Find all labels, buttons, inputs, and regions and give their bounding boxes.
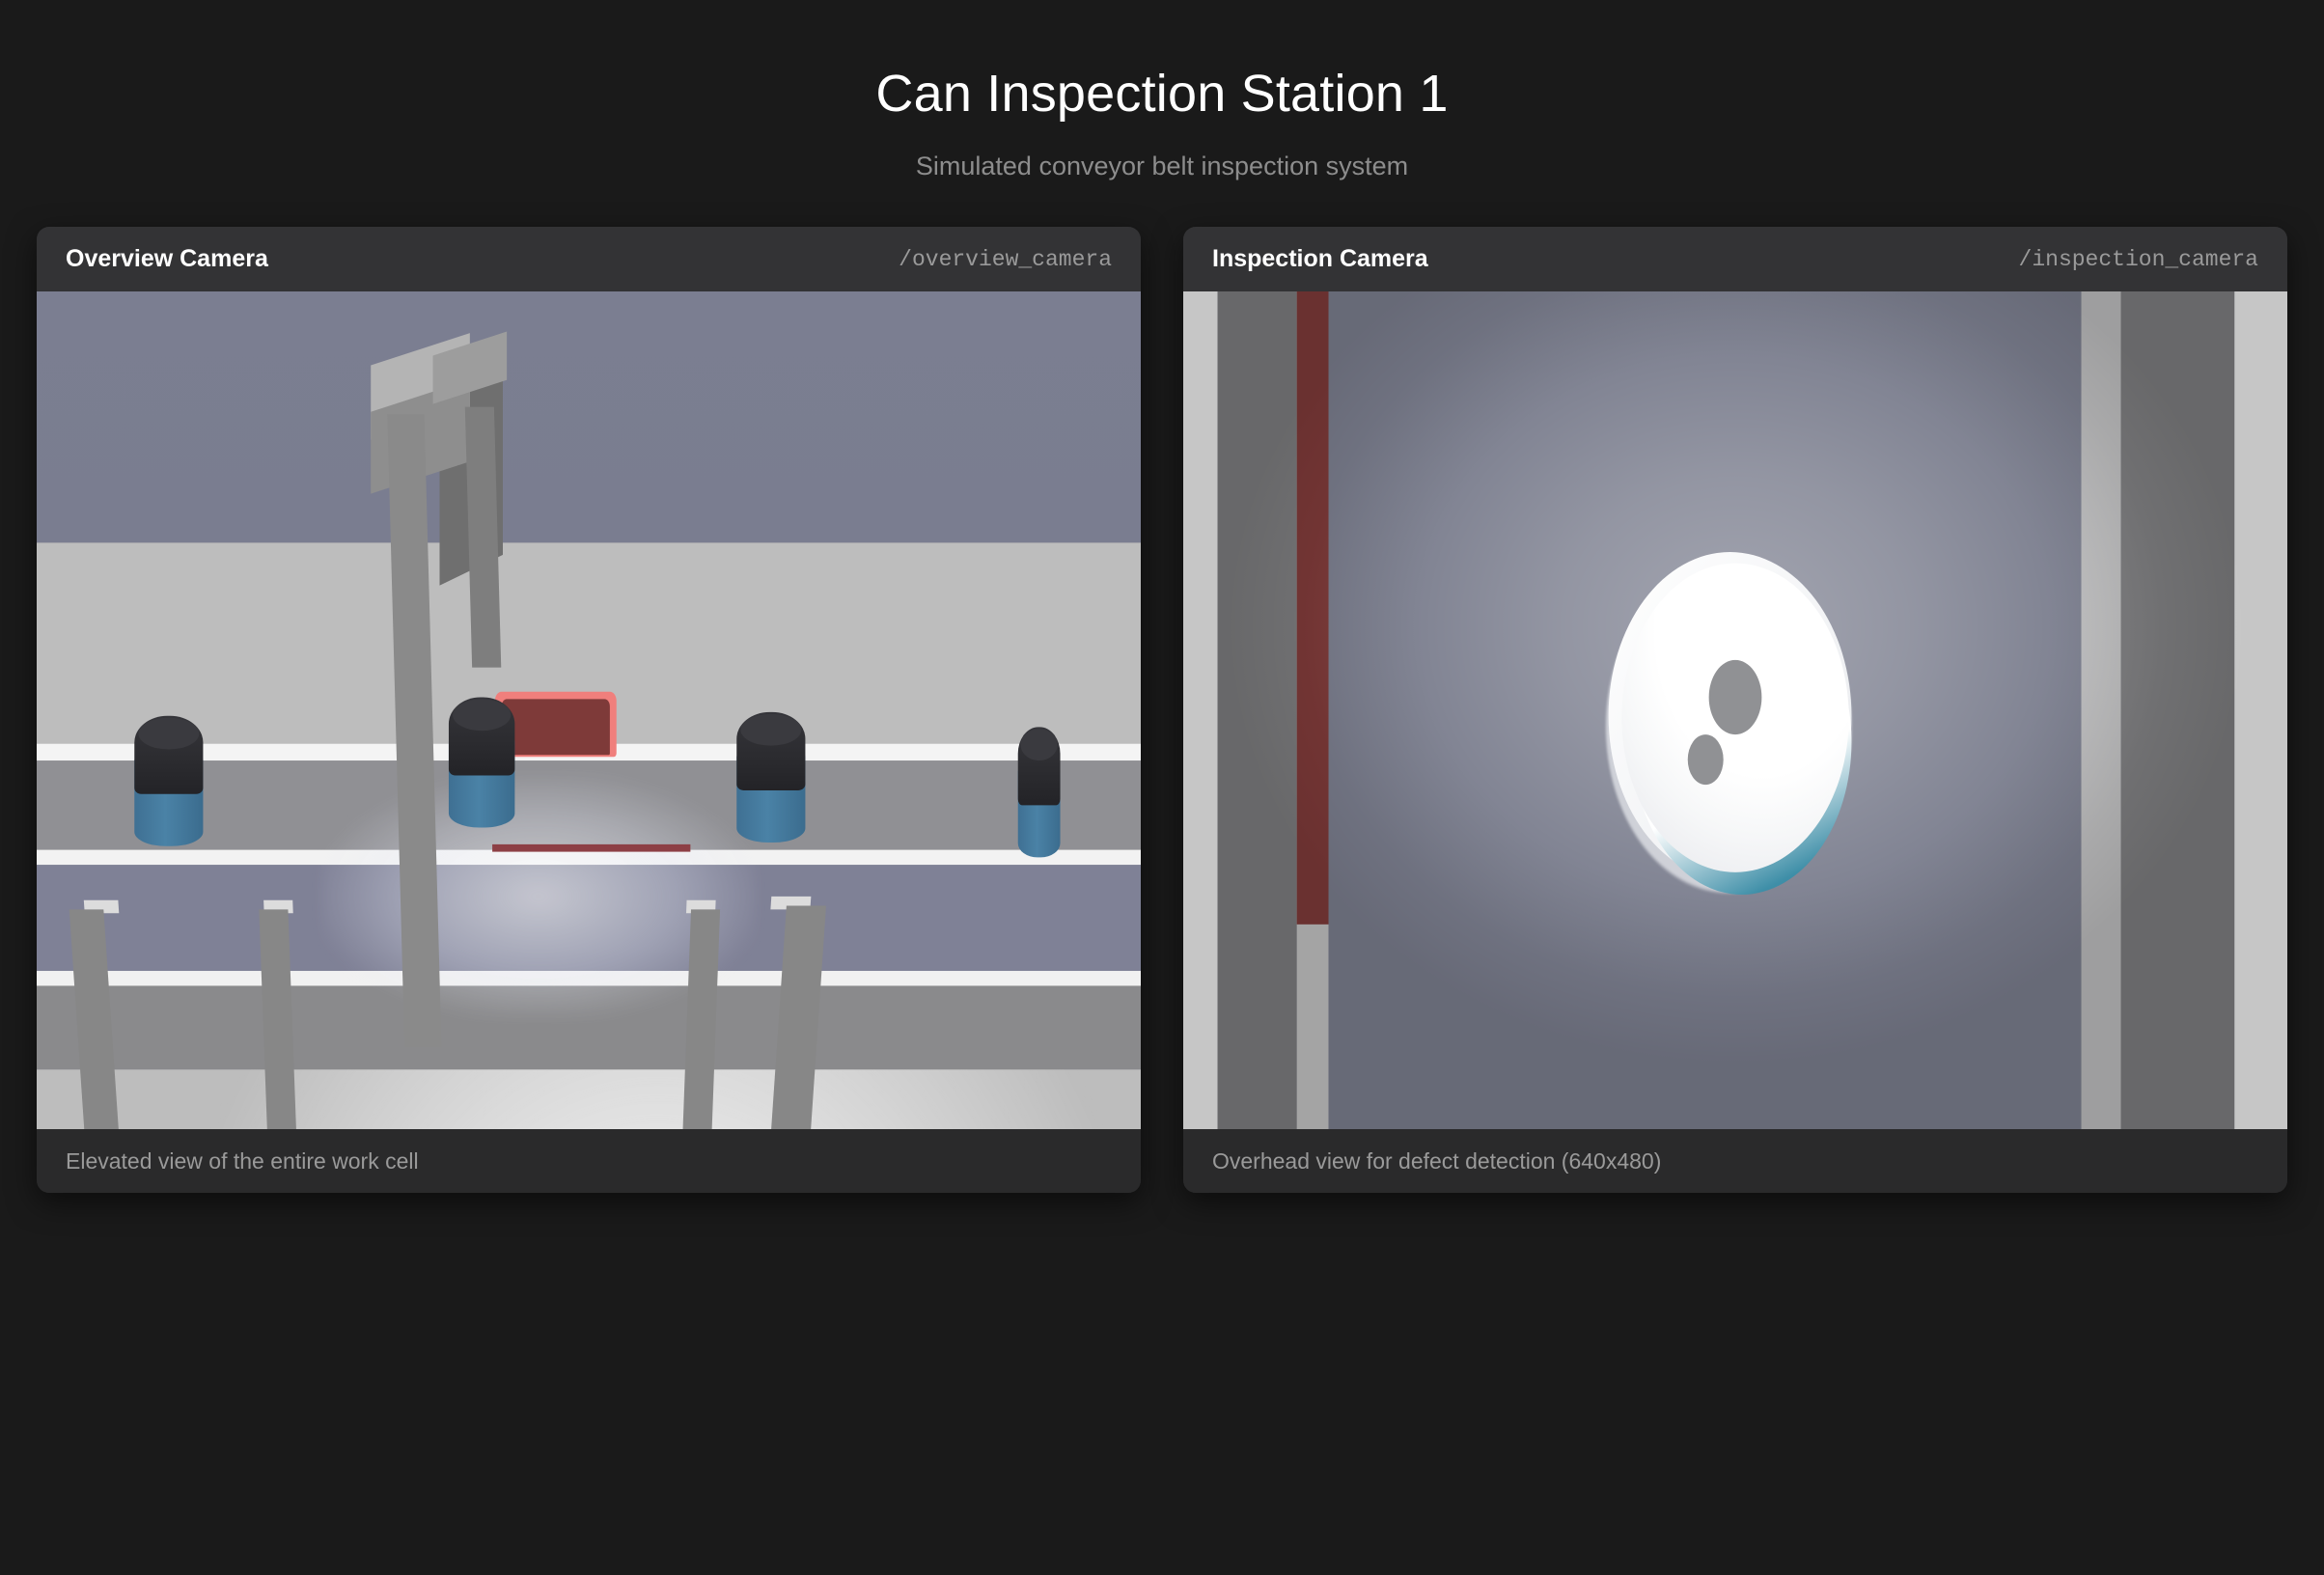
can-lid-top bbox=[139, 718, 200, 750]
overview-panel-header: Overview Camera /overview_camera bbox=[37, 227, 1141, 291]
overview-panel-title: Overview Camera bbox=[66, 245, 268, 273]
page-subtitle: Simulated conveyor belt inspection syste… bbox=[0, 152, 2324, 181]
conveyor-can bbox=[449, 698, 514, 832]
can-lid bbox=[134, 716, 203, 794]
inspection-panel-header: Inspection Camera /inspection_camera bbox=[1183, 227, 2287, 291]
defect-spot-small bbox=[1688, 734, 1724, 785]
conveyor-can bbox=[736, 712, 805, 846]
defect-spot-large bbox=[1709, 660, 1762, 734]
camera-panel-row: Overview Camera /overview_camera bbox=[0, 227, 2324, 1193]
reject-bin bbox=[502, 700, 610, 756]
page-header: Can Inspection Station 1 Simulated conve… bbox=[0, 64, 2324, 181]
overview-camera-viewport[interactable] bbox=[37, 291, 1141, 1129]
overview-panel-topic: /overview_camera bbox=[899, 247, 1112, 272]
can-lid bbox=[736, 712, 805, 790]
inspection-panel-topic: /inspection_camera bbox=[2019, 247, 2258, 272]
inspection-panel-caption: Overhead view for defect detection (640x… bbox=[1212, 1148, 1661, 1174]
app-root: Can Inspection Station 1 Simulated conve… bbox=[0, 0, 2324, 1575]
overview-camera-panel[interactable]: Overview Camera /overview_camera bbox=[37, 227, 1141, 1193]
page-title: Can Inspection Station 1 bbox=[0, 64, 2324, 124]
scene-wall bbox=[37, 291, 1141, 542]
can-lid-top bbox=[453, 700, 511, 732]
can-lid-top bbox=[1020, 729, 1058, 760]
conveyor-can bbox=[134, 716, 203, 850]
conveyor-can bbox=[1018, 727, 1061, 861]
inspection-camera-panel[interactable]: Inspection Camera /inspection_camera Ove… bbox=[1183, 227, 2287, 1193]
can-lid bbox=[1018, 727, 1061, 805]
can-lid bbox=[449, 698, 514, 776]
overview-panel-footer: Elevated view of the entire work cell bbox=[37, 1129, 1141, 1193]
inspection-camera-feed bbox=[1183, 291, 2287, 1129]
can-lid-top bbox=[741, 714, 802, 746]
inspection-panel-title: Inspection Camera bbox=[1212, 245, 1428, 273]
inspection-panel-footer: Overhead view for defect detection (640x… bbox=[1183, 1129, 2287, 1193]
inspection-camera-viewport[interactable] bbox=[1183, 291, 2287, 1129]
overview-camera-feed bbox=[37, 291, 1141, 1129]
overview-panel-caption: Elevated view of the entire work cell bbox=[66, 1148, 419, 1174]
reject-line-marker bbox=[492, 844, 690, 852]
